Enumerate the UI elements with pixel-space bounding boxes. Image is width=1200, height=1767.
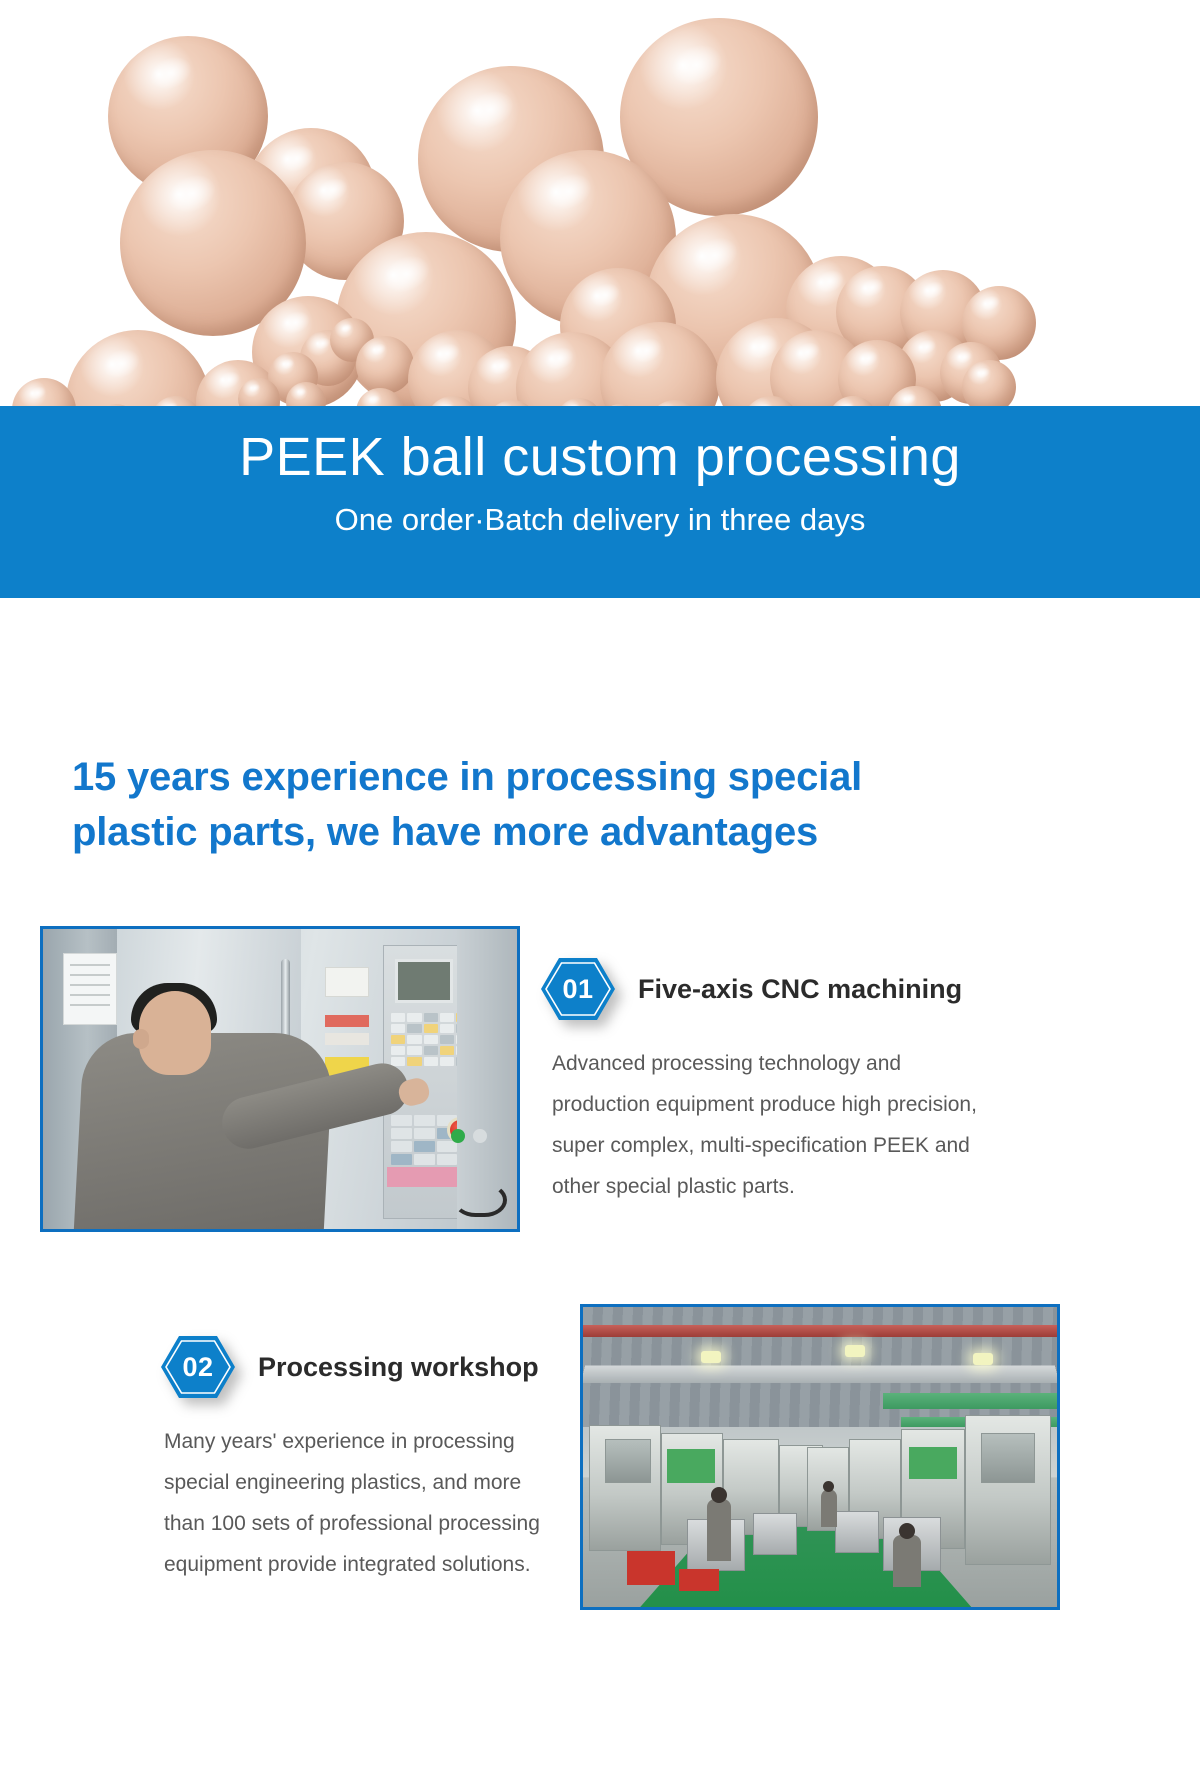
feature-row-02: 02 Processing workshop Many years' exper… (0, 1304, 1200, 1616)
control-key (440, 1024, 454, 1033)
control-key (424, 1024, 438, 1033)
control-key (414, 1115, 435, 1126)
feature-01-text: 01 Five-axis CNC machining Advanced proc… (520, 926, 1200, 1208)
feature-02-header: 02 Processing workshop (160, 1334, 580, 1400)
control-key (424, 1035, 438, 1044)
cnc-machining-photo (40, 926, 520, 1232)
control-key (391, 1024, 405, 1033)
control-key (437, 1141, 458, 1152)
control-key (424, 1013, 438, 1022)
processing-workshop-photo (580, 1304, 1060, 1610)
feature-02-text: 02 Processing workshop Many years' exper… (120, 1304, 580, 1586)
feature-01-photo-wrap (40, 926, 520, 1238)
control-key (440, 1035, 454, 1044)
feature-01-number: 01 (540, 956, 616, 1022)
feature-02-number: 02 (160, 1334, 236, 1400)
control-key (391, 1154, 412, 1165)
control-key (391, 1141, 412, 1152)
control-key (424, 1057, 438, 1066)
hexagon-badge-icon: 01 (540, 956, 616, 1022)
control-key (414, 1128, 435, 1139)
control-key (414, 1141, 435, 1152)
section-heading-line-1: 15 years experience in processing specia… (72, 750, 1052, 805)
feature-02-body: Many years' experience in processing spe… (164, 1422, 559, 1586)
feature-01-body: Advanced processing technology and produ… (552, 1044, 982, 1208)
control-key (391, 1035, 405, 1044)
hexagon-badge-icon: 02 (160, 1334, 236, 1400)
control-key (424, 1046, 438, 1055)
peek-ball (356, 336, 414, 394)
banner-title: PEEK ball custom processing (0, 428, 1200, 487)
control-key (391, 1115, 412, 1126)
feature-02-photo-wrap (580, 1304, 1060, 1616)
section-heading: 15 years experience in processing specia… (72, 750, 1052, 860)
control-key (414, 1154, 435, 1165)
hero-banner: PEEK ball custom processing One order·Ba… (0, 406, 1200, 598)
product-detail-page: PEEK ball custom processing One order·Ba… (0, 0, 1200, 1767)
hero-section: PEEK ball custom processing One order·Ba… (0, 0, 1200, 674)
section-heading-line-2: plastic parts, we have more advantages (72, 805, 1052, 860)
control-key (407, 1013, 421, 1022)
banner-subtitle: One order·Batch delivery in three days (0, 501, 1200, 538)
control-key (437, 1154, 458, 1165)
control-key (407, 1024, 421, 1033)
control-key (440, 1046, 454, 1055)
control-key (440, 1057, 454, 1066)
control-key (407, 1046, 421, 1055)
control-key (407, 1035, 421, 1044)
control-key (391, 1046, 405, 1055)
control-key (391, 1128, 412, 1139)
feature-row-01: 01 Five-axis CNC machining Advanced proc… (0, 926, 1200, 1238)
feature-01-header: 01 Five-axis CNC machining (540, 956, 1170, 1022)
feature-02-title: Processing workshop (258, 1351, 539, 1383)
control-key (391, 1013, 405, 1022)
control-key (407, 1057, 421, 1066)
feature-01-title: Five-axis CNC machining (638, 973, 962, 1005)
control-key (440, 1013, 454, 1022)
